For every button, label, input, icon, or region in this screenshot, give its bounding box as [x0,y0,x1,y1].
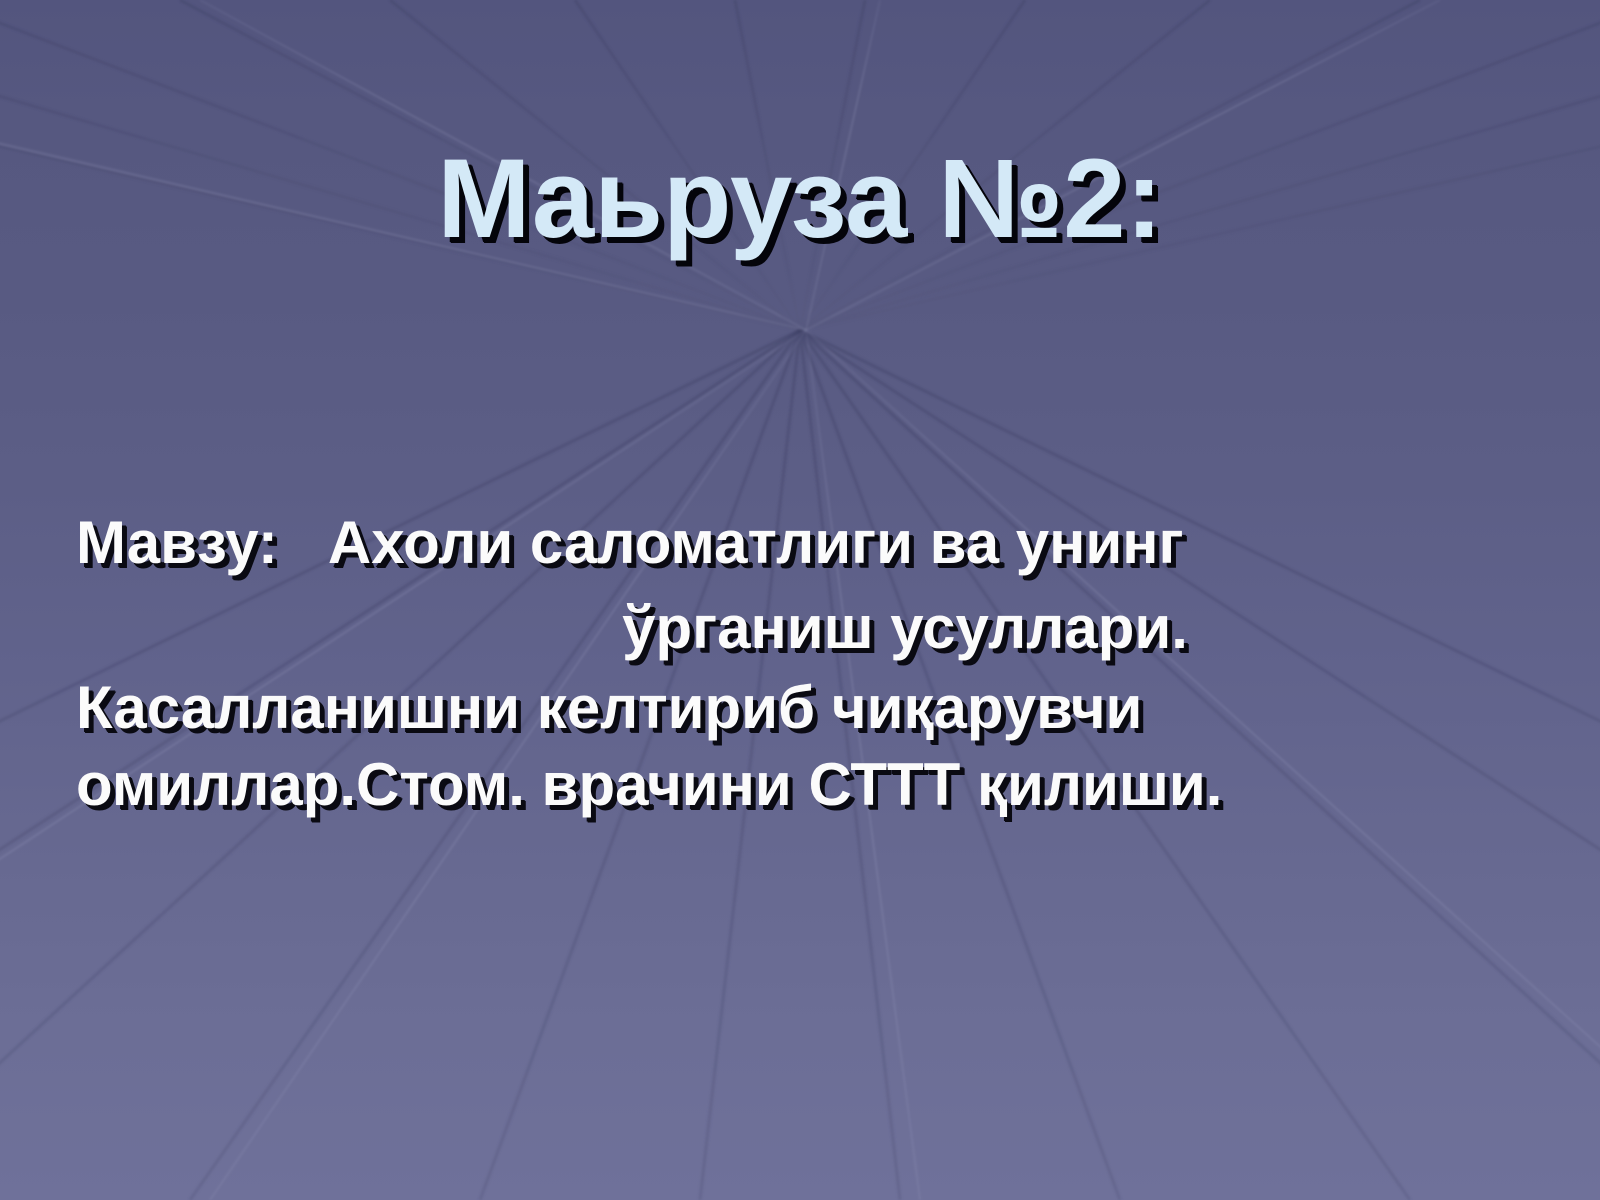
title-placeholder: Маьруза №2: [0,140,1600,258]
slide-content: Маьруза №2: Мавзу: Ахоли саломатлиги ва … [0,0,1600,1200]
body-line-4: омиллар.Стом. врачини СТТТ қилиши. [60,747,1540,824]
presentation-slide: Маьруза №2: Мавзу: Ахоли саломатлиги ва … [0,0,1600,1200]
body-placeholder: Мавзу: Ахоли саломатлиги ва унинг ўргани… [60,500,1540,824]
page-title: Маьруза №2: [437,140,1163,258]
body-line-1: Мавзу: Ахоли саломатлиги ва унинг [60,500,1540,585]
body-line-3: Касалланишни келтириб чиқарувчи [60,670,1540,747]
body-line-2: ўрганиш усуллари. [60,585,1540,670]
